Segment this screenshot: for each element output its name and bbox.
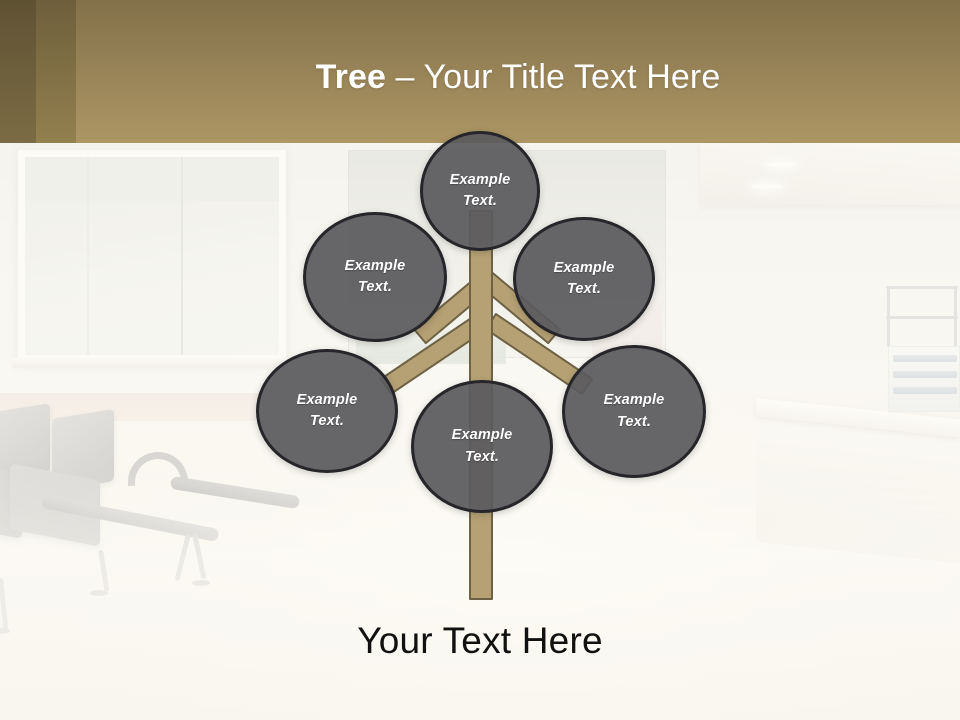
tree-node-upper-left[interactable]: Example Text. (303, 212, 447, 342)
tree-node-label: Example Text. (442, 425, 523, 467)
tree-node-center[interactable]: Example Text. (411, 380, 553, 513)
tree-node-lower-left[interactable]: Example Text. (256, 349, 398, 473)
tree-node-label: Example Text. (335, 256, 416, 298)
slide-canvas: Tree – Your Title Text Here Example Text… (0, 0, 960, 720)
tree-node-label: Example Text. (287, 390, 368, 432)
tree-node-label: Example Text. (544, 258, 625, 300)
footer-caption: Your Text Here (0, 620, 960, 662)
tree-node-lower-right[interactable]: Example Text. (562, 345, 706, 478)
tree-node-label: Example Text. (594, 390, 675, 432)
tree-node-top[interactable]: Example Text. (420, 131, 540, 251)
tree-node-label: Example Text. (440, 170, 521, 212)
tree-diagram: Example Text. Example Text. Example Text… (0, 0, 960, 720)
tree-node-upper-right[interactable]: Example Text. (513, 217, 655, 341)
